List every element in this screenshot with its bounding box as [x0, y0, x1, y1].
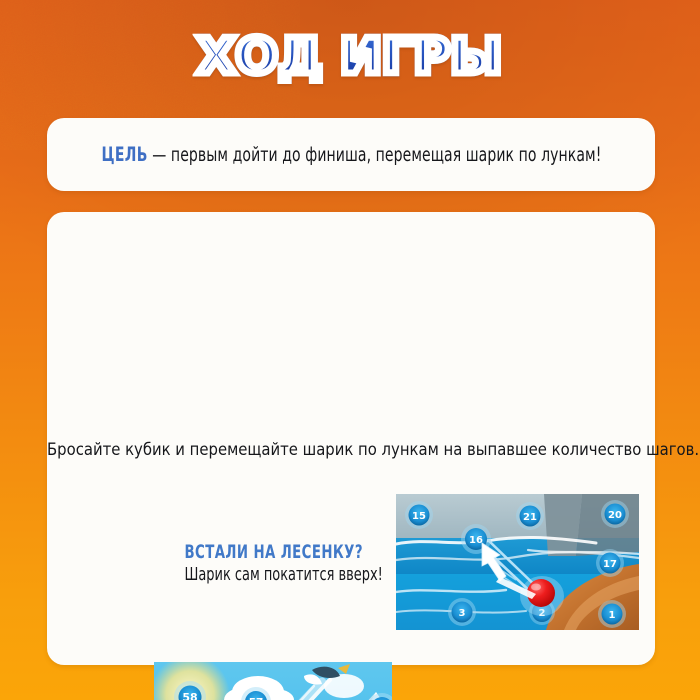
callout-ladder-subtext: Шарик сам покатится вверх!	[185, 564, 357, 585]
svg-text:17: 17	[603, 559, 617, 570]
rules-card: Бросайте кубик и перемещайте шарик по лу…	[47, 212, 655, 665]
board-photo-slide: 58 57 56 54	[154, 662, 392, 700]
goal-body-text: — первым дойти до финиша, перемещая шари…	[147, 143, 601, 166]
goal-line: ЦЕЛЬ — первым дойти до финиша, перемещая…	[101, 143, 601, 166]
board-photo-ladder: 15 21 20 16	[396, 494, 639, 630]
callout-ladder-heading: ВСТАЛИ НА ЛЕСЕНКУ?	[185, 542, 357, 563]
hole-17: 17	[596, 549, 624, 577]
svg-text:58: 58	[182, 691, 197, 700]
svg-text:16: 16	[469, 535, 483, 546]
page-title-text: ХОД ИГРЫ	[197, 28, 502, 86]
page-title: ХОД ИГРЫ	[0, 28, 700, 90]
callout-ladder: ВСТАЛИ НА ЛЕСЕНКУ? Шарик сам покатится в…	[163, 542, 378, 585]
hole-20: 20	[601, 500, 629, 528]
goal-card: ЦЕЛЬ — первым дойти до финиша, перемещая…	[47, 118, 655, 191]
hole-3: 3	[448, 598, 476, 626]
hole-15: 15	[405, 501, 433, 529]
svg-text:15: 15	[412, 511, 426, 522]
svg-text:3: 3	[459, 608, 466, 619]
board-photo-slide-art: 58 57 56 54	[154, 662, 392, 700]
svg-text:21: 21	[523, 512, 537, 523]
rules-intro-wrap: Бросайте кубик и перемещайте шарик по лу…	[47, 440, 655, 460]
rules-intro-text: Бросайте кубик и перемещайте шарик по лу…	[47, 440, 699, 459]
hole-21: 21	[516, 502, 544, 530]
svg-text:1: 1	[609, 610, 616, 621]
svg-text:20: 20	[608, 510, 622, 521]
board-photo-ladder-art: 15 21 20 16	[396, 494, 639, 630]
goal-accent-label: ЦЕЛЬ	[101, 143, 147, 166]
page-root: ХОД ИГРЫ ЦЕЛЬ — первым дойти до финиша, …	[0, 0, 700, 700]
hole-1: 1	[598, 600, 626, 628]
